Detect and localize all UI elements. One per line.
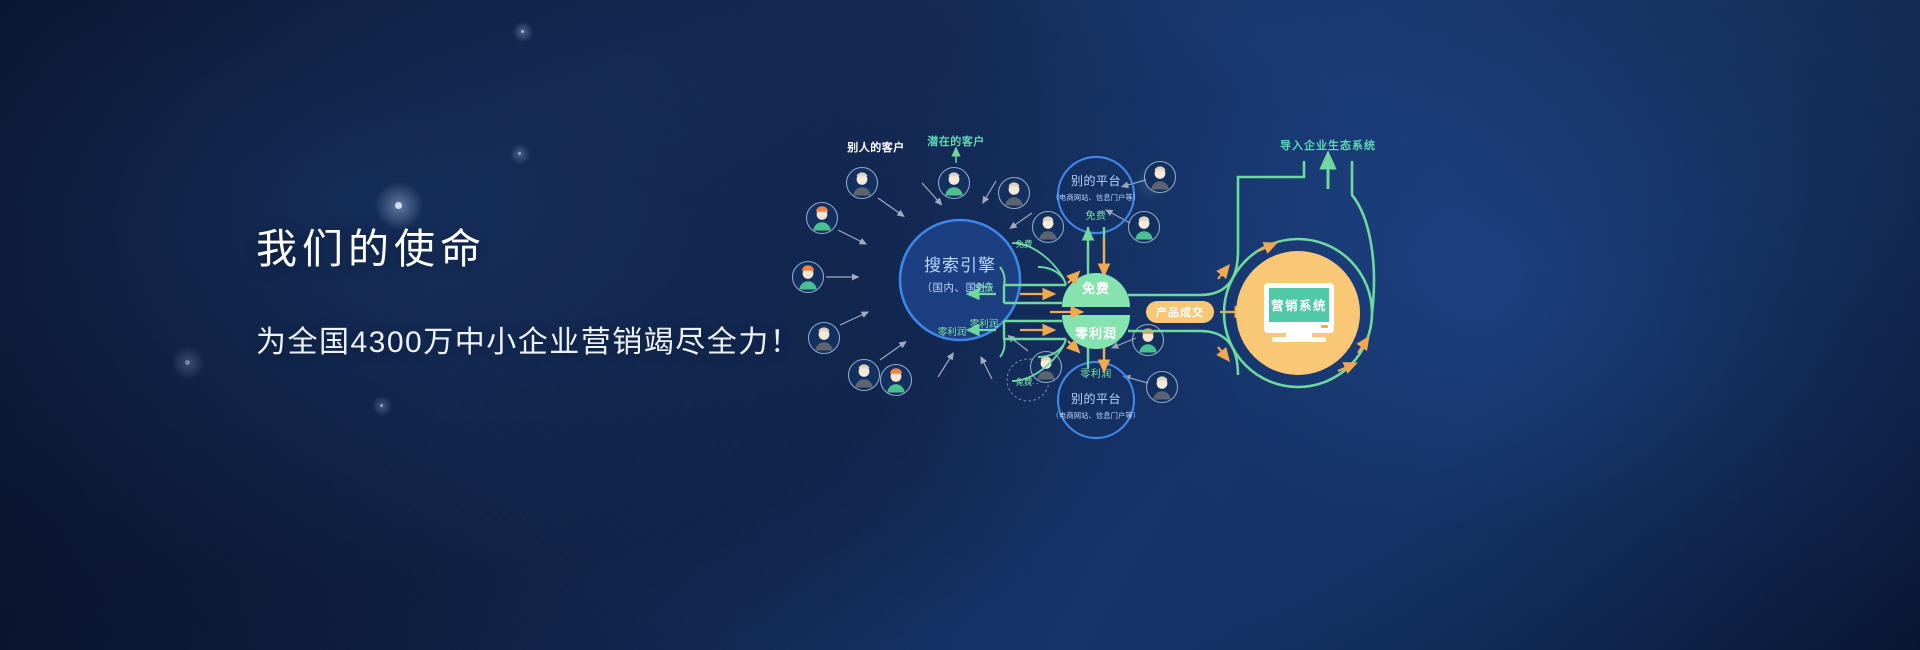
avatar-platform-customer[interactable] xyxy=(1133,325,1164,356)
edge-label-free-outer-top: 免费 xyxy=(1015,239,1033,249)
node-platform-bottom-title: 别的平台 xyxy=(1071,391,1121,406)
node-platform-top-title: 别的平台 xyxy=(1071,173,1121,188)
node-platform-bottom-badge: 零利润 xyxy=(1080,367,1112,380)
node-search-engine-circle[interactable] xyxy=(900,220,1020,340)
decorative-dot xyxy=(380,404,383,407)
node-platform-top-badge: 免费 xyxy=(1086,209,1107,222)
avatar-platform-customer[interactable] xyxy=(1147,372,1178,403)
avatar-others-customer[interactable] xyxy=(1033,212,1064,243)
page-title: 我们的使命 xyxy=(256,215,801,275)
node-platform-bottom-subtitle: （电商网站、信息门户等） xyxy=(1052,411,1141,420)
label-potential-customers: 潜在的客户 xyxy=(927,134,985,148)
edge-label-zero-inner-left: 零利润 xyxy=(970,318,999,330)
avatar-others-customer[interactable] xyxy=(881,365,912,396)
node-hub-bottom-label: 零利润 xyxy=(1074,326,1117,341)
label-others-customers: 别人的客户 xyxy=(846,140,905,154)
monitor-led-icon xyxy=(1321,325,1328,328)
avatar-others-customer[interactable] xyxy=(847,168,878,199)
page-subtitle: 为全国4300万中小企业营销竭尽全力！ xyxy=(256,317,801,361)
ecosystem-diagram: 搜索引擎 （国内、国外） ...... xyxy=(900,155,1530,515)
avatar-platform-customer[interactable] xyxy=(1145,162,1176,193)
monitor-neck-icon xyxy=(1286,333,1312,337)
avatar-others-customer[interactable] xyxy=(809,323,840,354)
avatar-others-customer[interactable] xyxy=(807,203,838,234)
hero-copy: 我们的使命 为全国4300万中小企业营销竭尽全力！ xyxy=(256,215,801,361)
node-hub-top-label: 免费 xyxy=(1082,281,1110,296)
edge-label-free-upper-left: 免费 xyxy=(974,282,993,294)
edge-label-zero-outer-left: 零利润 xyxy=(938,326,967,338)
edge-label-free-outer-bottom: 免费 xyxy=(1015,377,1033,387)
avatar-others-customer[interactable] xyxy=(793,262,824,293)
hero-banner: 我们的使命 为全国4300万中小企业营销竭尽全力！ xyxy=(0,0,1920,650)
avatar-others-customer[interactable] xyxy=(849,360,880,391)
decorative-dot xyxy=(185,360,190,365)
node-marketing-system-label: 营销系统 xyxy=(1271,298,1327,313)
decorative-dot xyxy=(521,30,524,33)
avatar-others-customer[interactable] xyxy=(999,178,1030,209)
avatar-potential-customer[interactable] xyxy=(939,168,970,199)
node-deal-label: 产品成交 xyxy=(1156,305,1204,319)
avatar-platform-customer[interactable] xyxy=(1129,212,1160,243)
decorative-dot xyxy=(518,152,521,155)
node-platform-top-subtitle: （电商网站、信息门户等） xyxy=(1052,193,1141,202)
monitor-base-icon xyxy=(1272,337,1326,342)
node-search-engine-title: 搜索引擎 xyxy=(924,256,996,275)
decorative-dot xyxy=(395,202,402,209)
label-import-enterprise-ecosystem: 导入企业生态系统 xyxy=(1280,138,1376,152)
